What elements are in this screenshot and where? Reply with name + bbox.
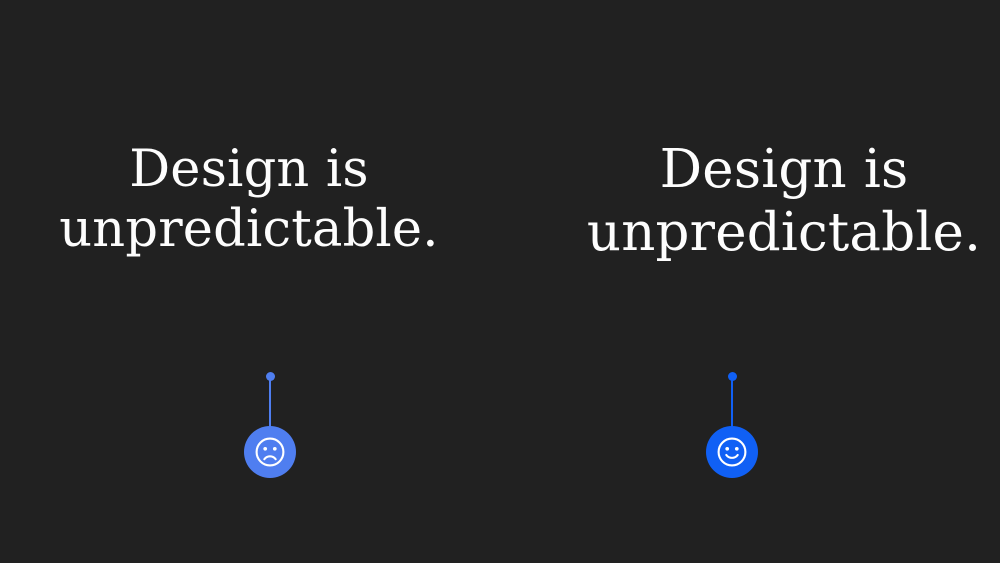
panel-left: Design is unpredictable. — [0, 0, 500, 563]
pin-bubble-left[interactable] — [244, 426, 296, 478]
headline-right: Design is unpredictable. — [534, 139, 1000, 264]
mood-pin-right[interactable] — [702, 372, 762, 482]
panel-right: Design is unpredictable. — [500, 0, 1000, 563]
smiling-face-icon — [715, 435, 749, 469]
headline-left: Design is unpredictable. — [0, 140, 499, 260]
pin-bubble-right[interactable] — [706, 426, 758, 478]
frowning-face-icon — [253, 435, 287, 469]
mood-pin-left[interactable] — [240, 372, 300, 482]
slide-canvas: Design is unpredictable. Design is unpre… — [0, 0, 1000, 563]
